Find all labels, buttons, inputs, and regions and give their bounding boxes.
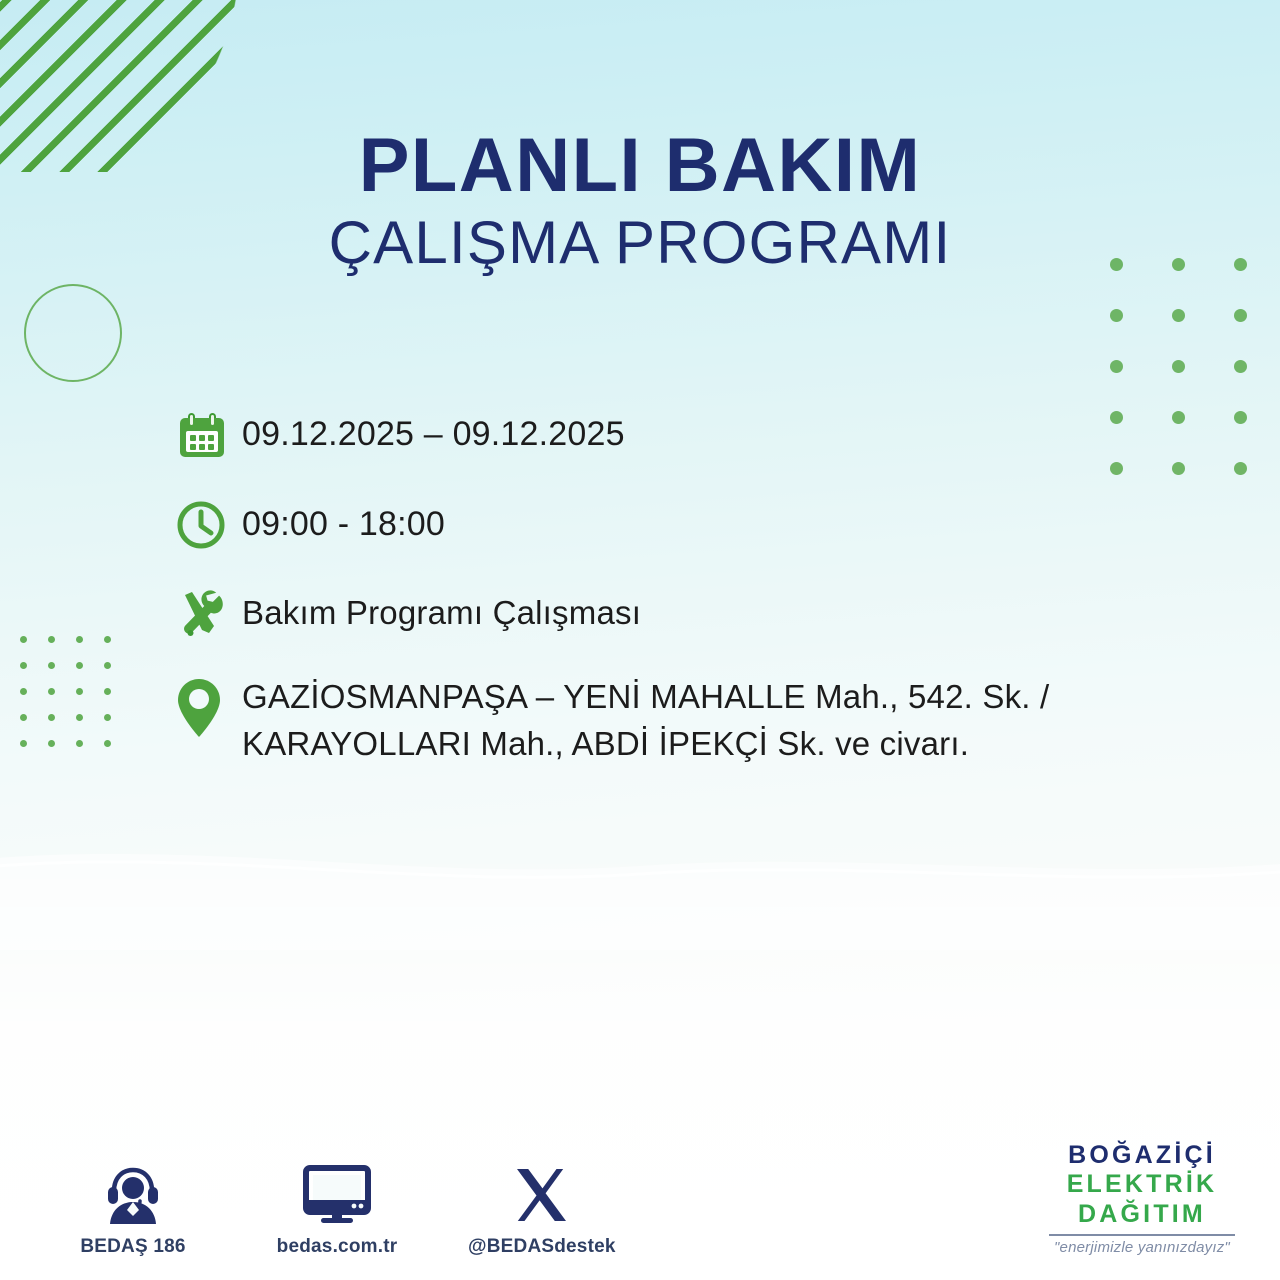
brand-tagline: "enerjimizle yanınızdayız"	[1036, 1239, 1248, 1256]
title-line-primary: PLANLI BAKIM	[0, 126, 1280, 205]
title-line-secondary: ÇALIŞMA PROGRAMI	[0, 211, 1280, 275]
brand-divider	[1049, 1234, 1235, 1236]
brand-line-3: DAĞITIM	[1036, 1200, 1248, 1230]
brand-logo: BOĞAZİÇİ ELEKTRİK DAĞITIM "enerjimizle y…	[1036, 1141, 1248, 1257]
support-agent-icon	[60, 1160, 206, 1226]
contact-website[interactable]: bedas.com.tr	[264, 1160, 410, 1258]
footer-contacts: BEDAŞ 186 bedas.com.tr	[60, 1160, 614, 1258]
wave-divider-decoration	[0, 820, 1280, 950]
clock-icon	[176, 494, 242, 556]
tools-icon	[176, 584, 242, 646]
circle-outline-decoration	[24, 284, 122, 382]
x-social-icon	[468, 1160, 614, 1226]
work-type-text: Bakım Programı Çalışması	[242, 584, 1246, 637]
detail-row-work-type: Bakım Programı Çalışması	[176, 584, 1246, 646]
page-title: PLANLI BAKIM ÇALIŞMA PROGRAMI	[0, 126, 1280, 275]
contact-call-center[interactable]: BEDAŞ 186	[60, 1160, 206, 1258]
monitor-icon	[264, 1160, 410, 1226]
detail-row-date: 09.12.2025 – 09.12.2025	[176, 404, 1246, 466]
brand-line-1: BOĞAZİÇİ	[1036, 1141, 1248, 1171]
date-range-text: 09.12.2025 – 09.12.2025	[242, 404, 1246, 458]
contact-call-center-label: BEDAŞ 186	[60, 1236, 206, 1258]
address-text: GAZİOSMANPAŞA – YENİ MAHALLE Mah., 542. …	[242, 674, 1246, 768]
time-range-text: 09:00 - 18:00	[242, 494, 1246, 548]
contact-website-label: bedas.com.tr	[264, 1236, 410, 1258]
detail-row-address: GAZİOSMANPAŞA – YENİ MAHALLE Mah., 542. …	[176, 674, 1246, 768]
detail-row-time: 09:00 - 18:00	[176, 494, 1246, 556]
location-pin-icon	[176, 674, 242, 736]
contact-social-x[interactable]: @BEDASdestek	[468, 1160, 614, 1258]
calendar-icon	[176, 404, 242, 466]
contact-social-x-label: @BEDASdestek	[468, 1236, 614, 1258]
poster-canvas: PLANLI BAKIM ÇALIŞMA PROGRAMI	[0, 0, 1280, 1280]
brand-line-2: ELEKTRİK	[1036, 1170, 1248, 1200]
outage-details: 09.12.2025 – 09.12.2025 09:00 - 18:00	[176, 404, 1246, 768]
dot-grid-left-decoration	[20, 636, 132, 766]
